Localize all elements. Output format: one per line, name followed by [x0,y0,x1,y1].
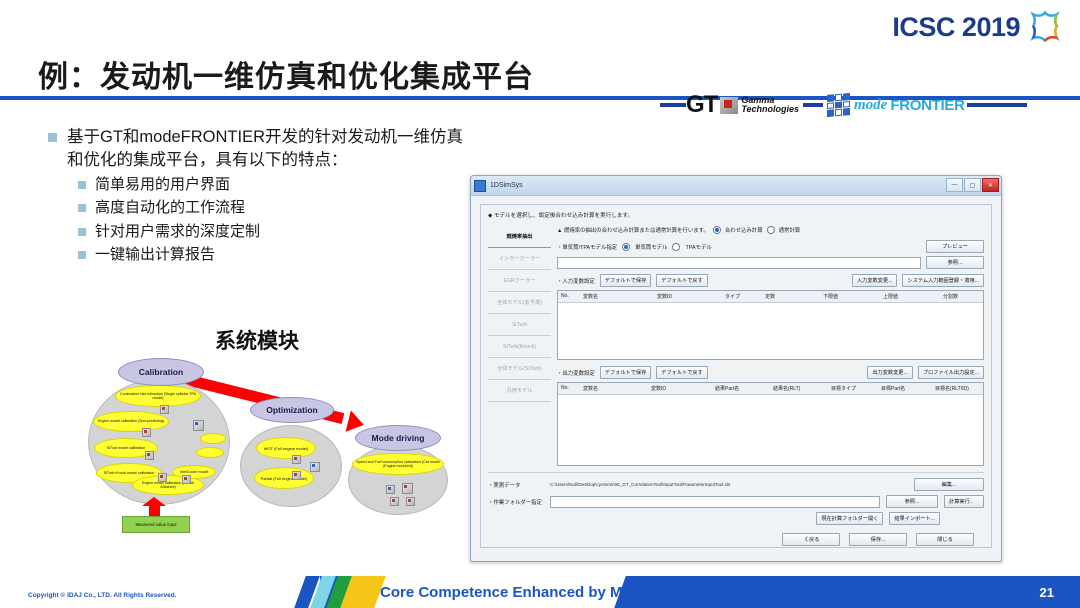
input-arrow-head [142,497,166,506]
measured-input-box: Measured value input [122,516,190,533]
input-vars-toolbar: ・入力変数設定 デフォルトで保存 デフォルトで戻す 入力変数変更... システム… [557,274,984,287]
model-file-icon [160,405,169,414]
modefrontier-grid-icon [827,93,850,117]
tab-intercooler[interactable]: インタークーラー [488,248,551,270]
measured-data-row: ・実測データ C:\Users\Null\Desktop\cyctems\06_… [488,478,984,491]
radio-single-cylinder[interactable] [622,243,630,251]
mode-driving-item: Speed and Fuel consumption calculation (… [352,453,444,475]
model-file-icon [158,473,167,482]
panel-columns: 燃焼率抽出 インタークーラー EGRクーラー 全体モデル(非予測) SiTurb… [488,226,984,466]
optimization-item: Partial (Full engine model) [254,467,314,489]
system-module-diagram: 系统模块 Combustion rate extraction (Single … [60,325,460,540]
model-file-icon [292,471,301,480]
measured-data-label: ・実測データ [488,481,544,489]
minimize-button[interactable]: — [946,178,963,192]
model-path-input[interactable] [557,257,921,269]
col-result-part: 結果Part名 [712,383,770,394]
conference-logo: ICSC 2019 [892,10,1062,44]
output-save-default-button[interactable]: デフォルトで保存 [600,366,652,379]
model-file-icon [292,455,301,464]
list-item-label: 针对用户需求的深度定制 [95,222,260,242]
window-title: 1DSimSys [490,182,523,189]
input-restore-default-button[interactable]: デフォルトで戻す [656,274,708,287]
window-titlebar[interactable]: 1DSimSys — ▢ ✕ [471,176,1001,196]
model-file-icon [390,497,399,506]
import-results-button[interactable]: 結果インポート... [889,512,940,525]
browse-model-button[interactable]: 参照... [926,256,984,269]
radio-combined-calc[interactable] [713,226,721,234]
col-lower-limit: 下限値 [820,291,880,302]
close-button[interactable]: ✕ [982,178,999,192]
diagram-title: 系统模块 [215,325,299,355]
output-vars-body[interactable] [558,395,983,465]
model-file-icon [145,451,154,460]
profile-output-settings-button[interactable]: プロファイル出力設定... [918,366,984,379]
main-panel: ◆ モデルを選択し、設定後合わせ込み計算を実行します。 燃焼率抽出 インタークー… [480,204,992,548]
input-vars-table[interactable]: No. 変数名 変数ID タイプ 定数 下限値 上限値 分割数 [557,290,984,360]
output-restore-default-button[interactable]: デフォルトで戻す [656,366,708,379]
gt-logo-text: GT [686,93,717,117]
model-file-icon [386,485,395,494]
output-vars-label: ・出力変数設定 [557,369,595,377]
conference-logo-text: ICSC 2019 [892,12,1020,43]
list-item-label: 高度自动化的工作流程 [95,198,245,218]
system-input-range-button[interactable]: システム入力範囲登録・適用... [902,274,984,287]
run-calc-button[interactable]: 計算実行.. [944,495,984,508]
dialog-buttons: 《 戻る 保存... 閉じる [488,533,984,546]
model-spec-label: ・単気筒/TPAモデル指定 [557,243,617,251]
col-var-id: 変数ID [654,291,722,302]
stage-mode-driving: Mode driving [355,425,441,451]
calibration-item: Engine model calibration (Non-predicting… [93,411,169,432]
radio-tpa-model[interactable] [672,243,680,251]
list-item-label: 简单易用的用户界面 [95,175,230,195]
tab-egr-cooler[interactable]: EGRクーラー [488,270,551,292]
col-divisions: 分割数 [940,291,983,302]
bullet-list: 基于GT和modeFRONTIER开发的针对发动机一维仿真和优化的集成平台，具有… [48,126,478,269]
optimization-item: WOT (Full engine model) [256,437,316,459]
calibration-item-blank [196,447,224,458]
radio-tpa-model-label: TPAモデル [685,243,711,251]
hub-node-icon [310,462,320,472]
col-constant: 定数 [762,291,820,302]
tab-general-model[interactable]: 汎用モデル [488,380,551,402]
model-file-icon [182,475,191,484]
bullet-square-icon [48,133,57,142]
bullet-square-icon [78,181,86,189]
radio-normal-calc[interactable] [767,226,775,234]
input-vars-body[interactable] [558,303,983,359]
calibration-item-blank [200,433,226,444]
work-folder-input[interactable] [550,496,880,508]
gamma-technologies-label: Gamma Technologies [741,96,799,115]
output-vars-toolbar: ・出力変数設定 デフォルトで保存 デフォルトで戻す 出力変数変更... プロファ… [557,366,984,379]
calibration-item: InterCooler model [172,465,216,479]
output-vars-table[interactable]: No. 変数名 変数ID 結果Part名 結果名(RLT) 目標タイプ 目標Pa… [557,382,984,466]
logo-rule-mid [803,103,823,107]
model-file-icon [402,483,413,494]
tab-siturb[interactable]: SiTurb [488,314,551,336]
mode-label: mode [854,97,887,114]
col-upper-limit: 上限値 [880,291,940,302]
calc-mode-note: ▲ 燃焼率の抽出の合わせ込み計算または通常計算を行います。 [557,226,709,234]
bullet-sublist: 简单易用的用户界面 高度自动化的工作流程 针对用户需求的深度定制 一键输出计算报… [78,175,478,265]
output-vars-change-button[interactable]: 出力変数変更... [867,366,912,379]
col-target-part: 目標Part名 [878,383,932,394]
bullet-square-icon [78,228,86,236]
back-button[interactable]: 《 戻る [782,533,840,546]
browse-folder-button[interactable]: 参照... [886,495,938,508]
footer-copyright: Copyright © IDAJ Co., LTD. All Rights Re… [28,592,177,599]
bullet-square-icon [78,251,86,259]
radio-single-cylinder-label: 単気筒モデル [635,243,667,251]
col-result-name: 結果名(RLT) [770,383,828,394]
list-item: 针对用户需求的深度定制 [78,222,478,242]
app-window: 1DSimSys — ▢ ✕ ◆ モデルを選択し、設定後合わせ込み計算を実行しま… [470,175,1002,562]
preview-button[interactable]: プレビュー [926,240,984,253]
stage-calibration: Calibration [118,358,204,386]
tab-siturb-knock[interactable]: SiTurb(Knock) [488,336,551,358]
logo-rule-left [660,103,686,107]
frontier-label: FRONTIER [890,97,964,114]
output-vars-header: No. 変数名 変数ID 結果Part名 結果名(RLT) 目標タイプ 目標Pa… [558,383,983,395]
save-button[interactable]: 保存... [849,533,907,546]
tab-full-model-siturb[interactable]: 全体モデル(SiTurb) [488,358,551,380]
model-file-icon [406,497,415,506]
radio-normal-calc-label: 通常計算 [779,226,801,234]
work-folder-label: ・作業フォルダー指定 [488,498,544,506]
col-var-name: 変数名 [580,291,654,302]
input-save-default-button[interactable]: デフォルトで保存 [600,274,652,287]
tab-content: ▲ 燃焼率の抽出の合わせ込み計算または通常計算を行います。 合わせ込み計算 通常… [557,226,984,466]
logo-rule-right [967,103,1027,107]
partner-logos: GT Gamma Technologies mode FRONTIER [660,88,1060,122]
measured-data-path: C:\Users\Null\Desktop\cyctems\06_GT_Corr… [550,482,908,487]
tab-combustion-rate[interactable]: 燃焼率抽出 [488,226,551,248]
edit-button[interactable]: 編集... [914,478,984,491]
window-body: ◆ モデルを選択し、設定後合わせ込み計算を実行します。 燃焼率抽出 インタークー… [471,196,1001,553]
input-vars-label: ・入力変数設定 [557,277,595,285]
col-type: タイプ [722,291,762,302]
icsc-star-icon [1028,10,1062,44]
model-spec-row: ・単気筒/TPAモデル指定 単気筒モデル TPAモデル プレビュー [557,240,984,253]
model-file-icon [142,428,151,437]
gamma-square-icon [720,97,738,114]
hub-node-icon [193,420,204,431]
app-icon [474,180,486,192]
radio-combined-calc-label: 合わせ込み計算 [725,226,763,234]
tab-list: 燃焼率抽出 インタークーラー EGRクーラー 全体モデル(非予測) SiTurb… [488,226,551,466]
calibration-item: Combustion rate extraction (Single cylin… [115,385,201,407]
col-target-name: 目標名(RLT/ID) [932,383,983,394]
col-var-name: 変数名 [580,383,648,394]
work-folder-row: ・作業フォルダー指定 参照... 計算実行.. [488,495,984,508]
instruction-text: ◆ モデルを選択し、設定後合わせ込み計算を実行します。 [488,211,984,219]
col-no: No. [558,383,580,394]
list-item: 高度自动化的工作流程 [78,198,478,218]
slide-footer: Copyright © IDAJ Co., LTD. All Rights Re… [0,568,1080,608]
calc-mode-row: ▲ 燃焼率の抽出の合わせ込み計算または通常計算を行います。 合わせ込み計算 通常… [557,226,984,234]
close-dialog-button[interactable]: 閉じる [916,533,974,546]
maximize-button[interactable]: ▢ [964,178,981,192]
tab-full-model-nonpredictive[interactable]: 全体モデル(非予測) [488,292,551,314]
footer-tagline: Core Competence Enhanced by MBD [380,584,644,601]
folder-actions-row: 現在計算フォルダー開く 結果インポート... [488,512,984,525]
input-vars-change-button[interactable]: 入力変数変更... [852,274,897,287]
col-var-id: 変数ID [648,383,712,394]
bottom-section: ・実測データ C:\Users\Null\Desktop\cyctems\06_… [488,472,984,546]
list-item: 简单易用的用户界面 [78,175,478,195]
bullet-main: 基于GT和modeFRONTIER开发的针对发动机一维仿真和优化的集成平台，具有… [48,126,478,172]
page-number: 21 [1040,585,1054,600]
page-title: 例：发动机一维仿真和优化集成平台 [38,52,534,96]
window-controls: — ▢ ✕ [946,178,999,192]
bullet-square-icon [78,204,86,212]
col-no: No. [558,291,580,302]
list-item-label: 一键输出计算报告 [95,245,215,265]
bullet-main-text: 基于GT和modeFRONTIER开发的针对发动机一维仿真和优化的集成平台，具有… [67,126,478,172]
stage-optimization: Optimization [250,397,334,423]
list-item: 一键输出计算报告 [78,245,478,265]
input-vars-header: No. 変数名 変数ID タイプ 定数 下限値 上限値 分割数 [558,291,983,303]
col-target-type: 目標タイプ [828,383,878,394]
open-current-folder-button[interactable]: 現在計算フォルダー開く [816,512,883,525]
model-path-row: 参照... [557,256,984,269]
